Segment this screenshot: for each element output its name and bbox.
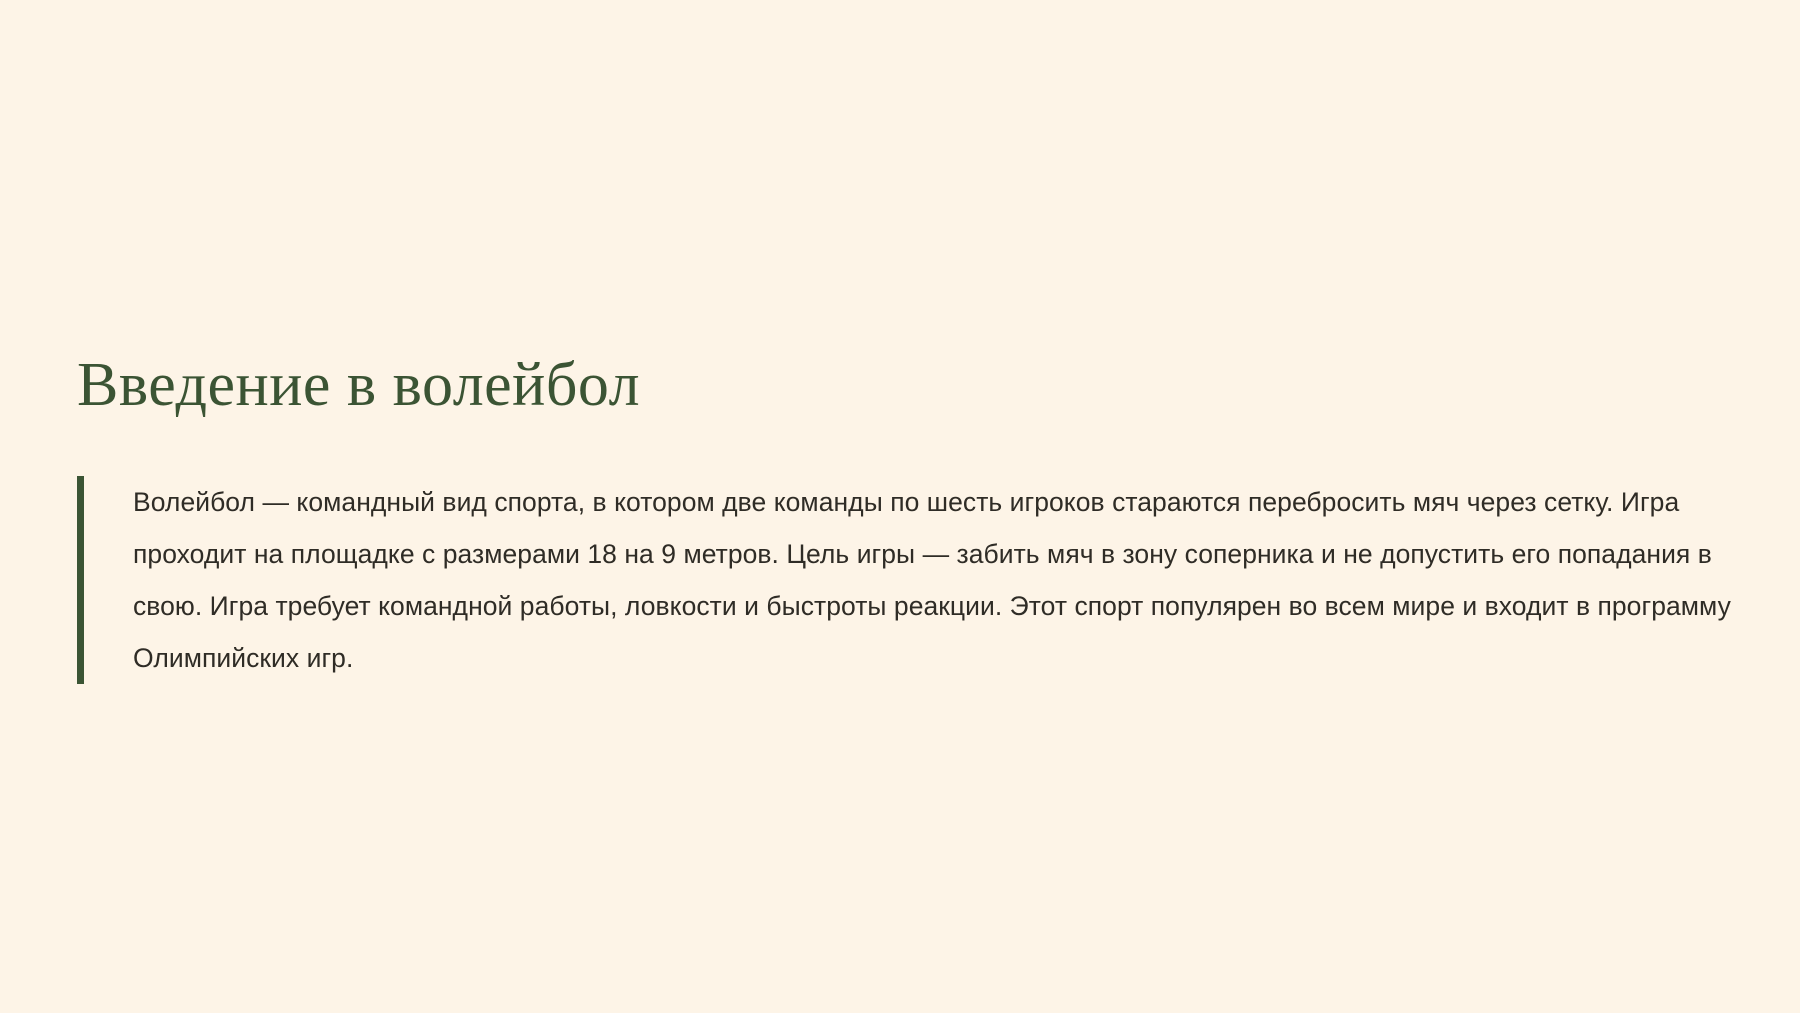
page-title: Введение в волейбол	[77, 352, 1747, 419]
intro-callout: Волейбол — командный вид спорта, в котор…	[77, 476, 1747, 684]
article: Введение в волейбол Волейбол — командный…	[77, 352, 1747, 684]
page-root: Введение в волейбол Волейбол — командный…	[0, 0, 1800, 1013]
intro-paragraph: Волейбол — командный вид спорта, в котор…	[133, 476, 1747, 684]
callout-accent-bar	[77, 476, 84, 684]
